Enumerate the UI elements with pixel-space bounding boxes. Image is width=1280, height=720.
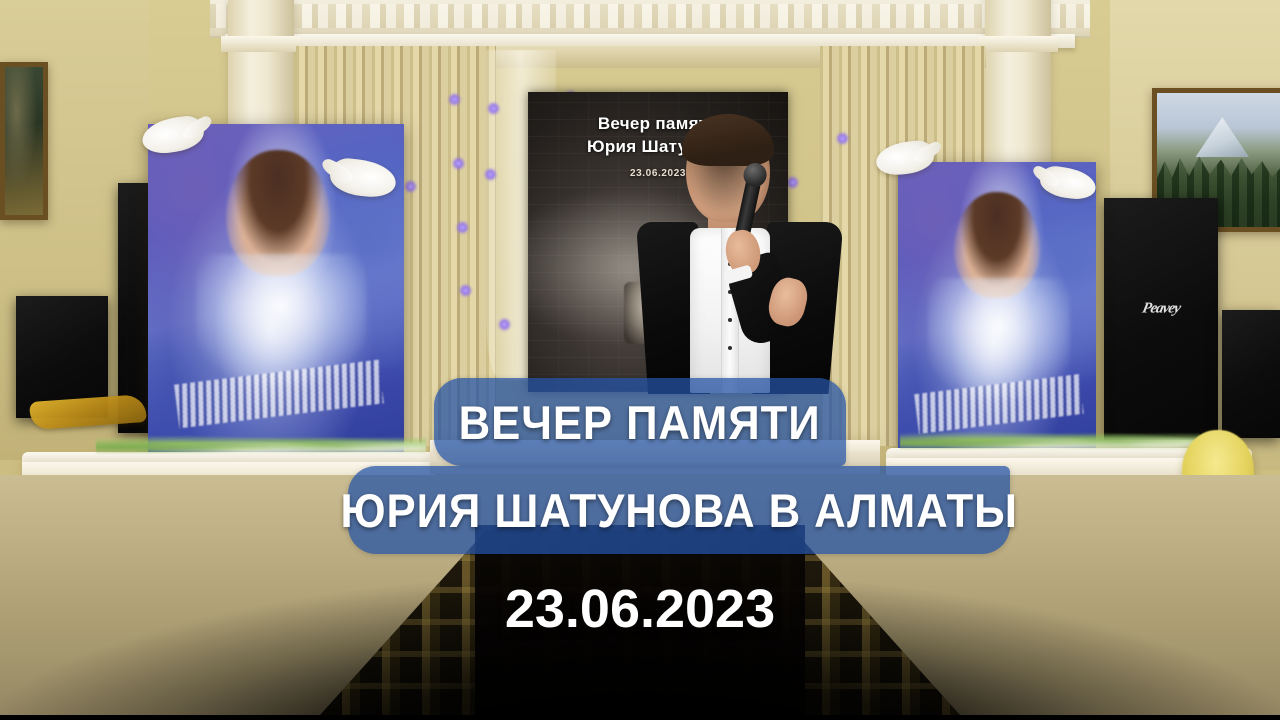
column-capital-right: [978, 36, 1058, 52]
flower-garland-right: [900, 430, 1200, 456]
event-date-overlay: 23.06.2023: [0, 578, 1280, 640]
wall-picture-left: [0, 62, 48, 220]
molding-relief-pattern: [210, 4, 1090, 28]
crown-molding: [210, 0, 1090, 38]
led-light: [448, 93, 461, 106]
led-light: [484, 168, 497, 181]
led-light: [498, 318, 511, 331]
speaker-right-peavey: Peavey: [1104, 198, 1218, 440]
title-line-1: ВЕЧЕР ПАМЯТИ: [459, 395, 821, 450]
shirt-button: [728, 346, 732, 350]
title-banner-top: ВЕЧЕР ПАМЯТИ: [434, 378, 846, 466]
letterbox-bar-bottom: [0, 715, 1280, 720]
performer-singer: [634, 118, 844, 393]
led-light: [452, 157, 465, 170]
performer-hair: [682, 114, 774, 166]
memorial-poster-right: [898, 162, 1096, 454]
title-line-2: ЮРИЯ ШАТУНОВА В АЛМАТЫ: [340, 483, 1017, 538]
wall-picture-left-art: [5, 67, 43, 215]
led-light: [456, 221, 469, 234]
video-frame: Вечер памяти Юрия Шатунова 23.06.2023 Pe…: [0, 0, 1280, 720]
column-capital-left: [221, 36, 301, 52]
flower-garland-left: [96, 434, 426, 460]
speaker-right-low: [1222, 310, 1280, 438]
peavey-logo: Peavey: [1141, 301, 1182, 318]
led-light: [459, 284, 472, 297]
led-light: [487, 102, 500, 115]
title-banner-bottom: ЮРИЯ ШАТУНОВА В АЛМАТЫ: [348, 466, 1010, 554]
led-light: [404, 180, 417, 193]
shirt-button: [728, 318, 732, 322]
